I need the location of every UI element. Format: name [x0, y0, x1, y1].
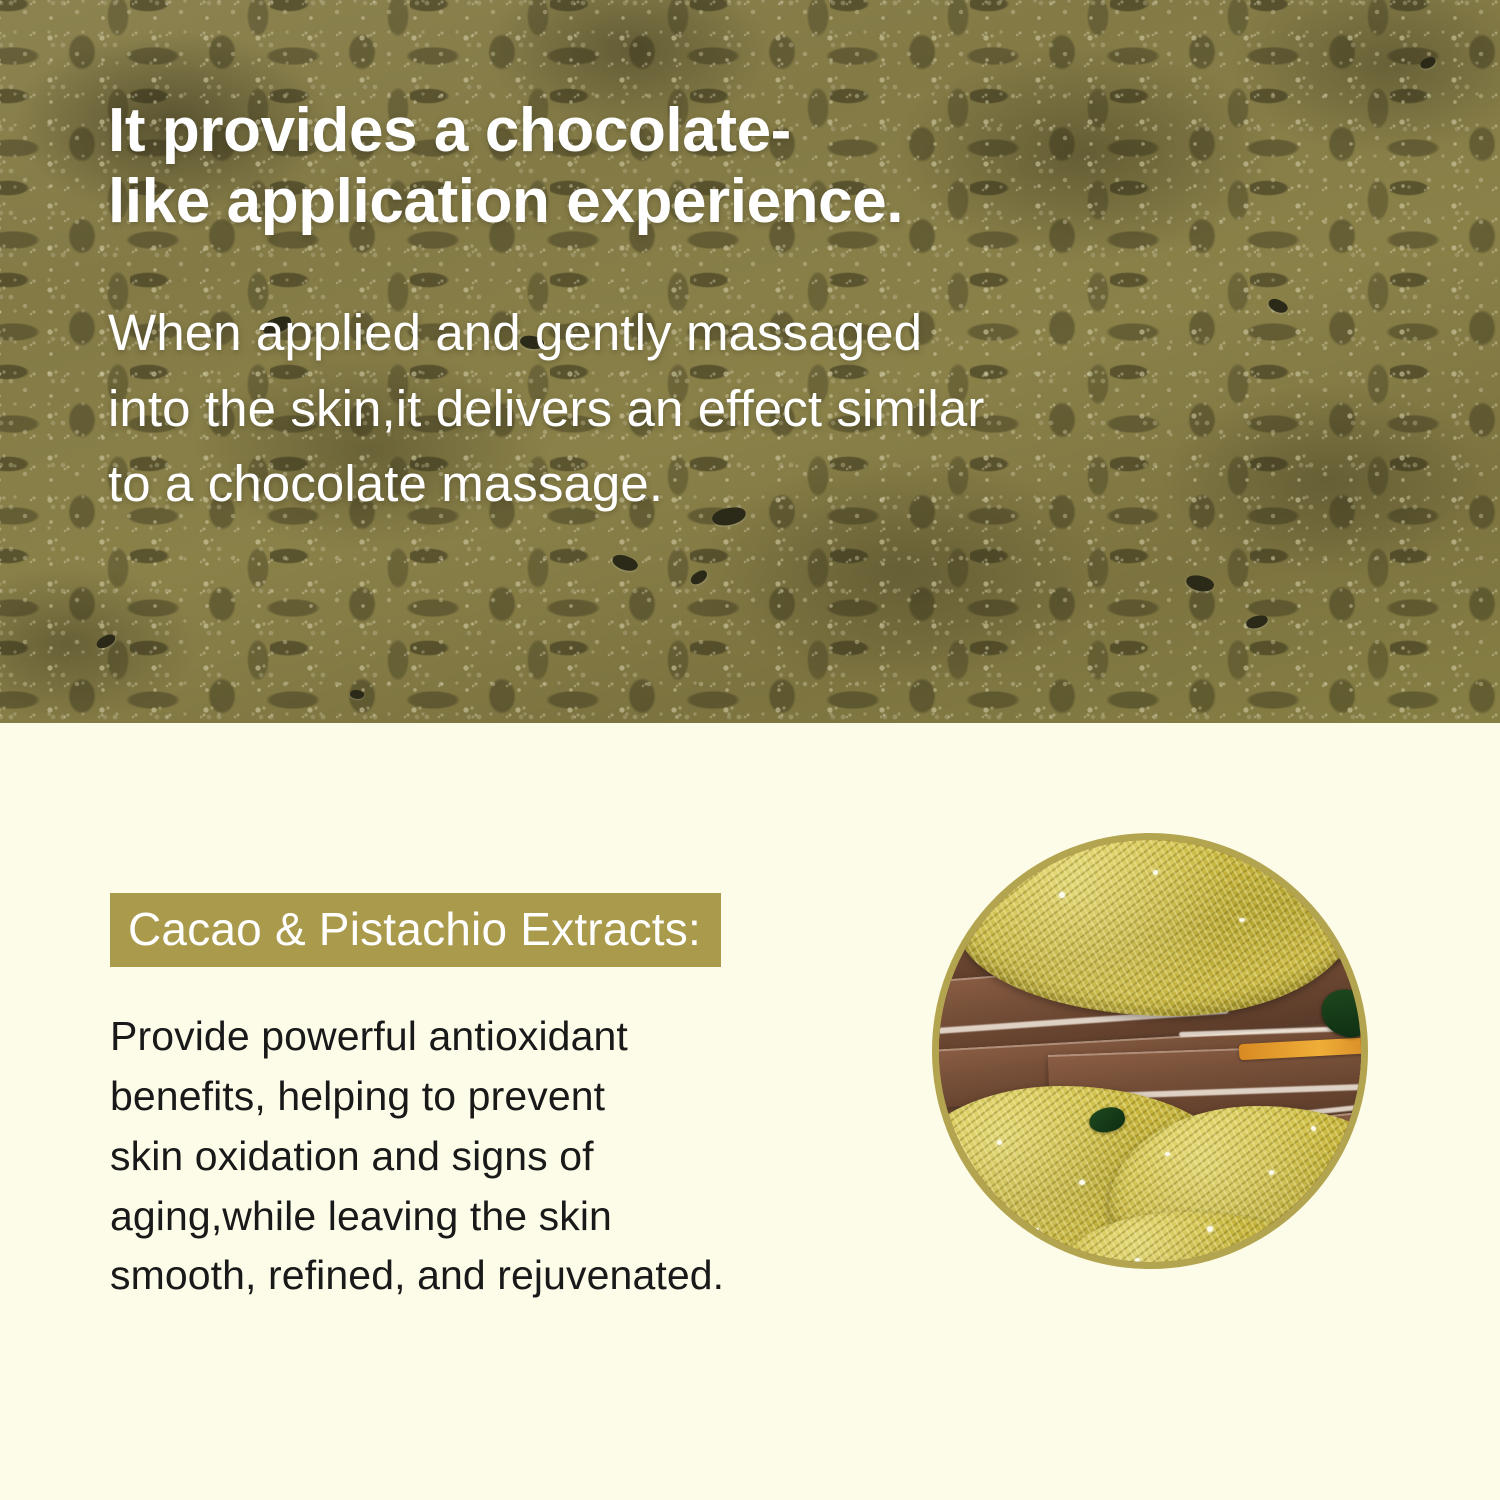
product-photo-circle	[932, 833, 1368, 1269]
ingredient-copy-column: Cacao & Pistachio Extracts: Provide powe…	[110, 893, 900, 1306]
hero-body-line-1: When applied and gently massaged	[108, 295, 1408, 370]
hero-section: It provides a chocolate- like applicatio…	[0, 0, 1500, 723]
hero-headline: It provides a chocolate- like applicatio…	[108, 96, 1408, 237]
ingredient-body-line-2: benefits, helping to prevent	[110, 1067, 900, 1127]
ingredient-body-line-4: aging,while leaving the skin	[110, 1187, 900, 1247]
hero-body-line-3: to a chocolate massage.	[108, 446, 1408, 521]
ingredient-body-line-1: Provide powerful antioxidant	[110, 1007, 900, 1067]
ingredient-title: Cacao & Pistachio Extracts:	[128, 903, 701, 955]
headline-line-2: like application experience.	[108, 167, 1408, 238]
hero-body-text: When applied and gently massaged into th…	[108, 295, 1408, 521]
ingredient-body-line-3: skin oxidation and signs of	[110, 1127, 900, 1187]
headline-line-1: It provides a chocolate-	[108, 96, 1408, 167]
chocolate-pistachio-photo	[939, 840, 1361, 1262]
hero-text-block: It provides a chocolate- like applicatio…	[108, 96, 1408, 522]
ingredient-body-text: Provide powerful antioxidant benefits, h…	[110, 1007, 900, 1306]
product-infographic: It provides a chocolate- like applicatio…	[0, 0, 1500, 1500]
ingredient-title-band: Cacao & Pistachio Extracts:	[110, 893, 721, 967]
hero-body-line-2: into the skin,it delivers an effect simi…	[108, 371, 1408, 446]
ingredient-body-line-5: smooth, refined, and rejuvenated.	[110, 1246, 900, 1306]
